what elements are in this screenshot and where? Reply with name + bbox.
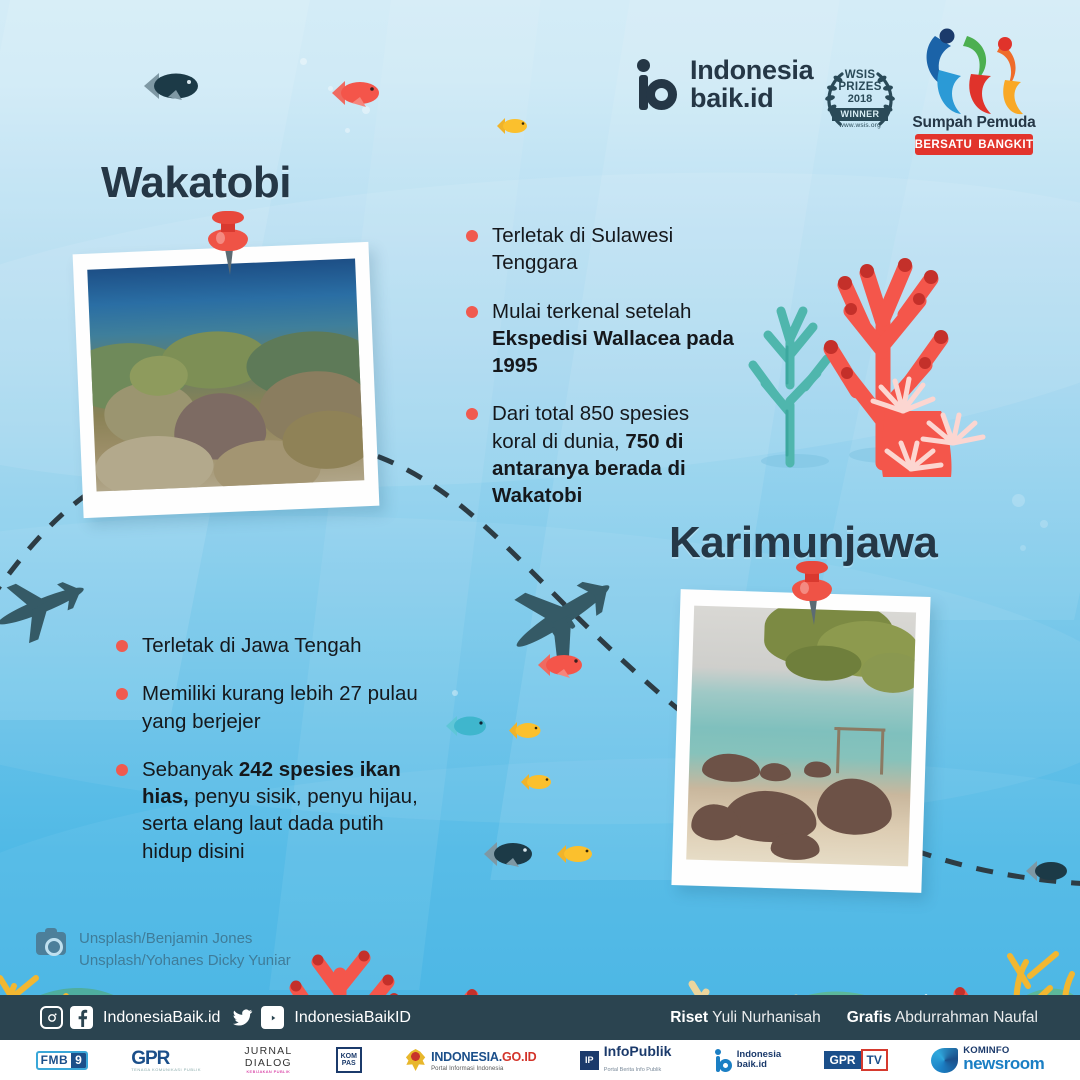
photo-beach xyxy=(686,606,916,867)
partner-logo-gpr[interactable]: GPR TENAGA KOMUNIKASI PUBLIK xyxy=(131,1045,201,1075)
bullet-text: Sebanyak 242 spesies ikan hias, penyu si… xyxy=(142,756,436,865)
page-title-wakatobi: Wakatobi xyxy=(101,158,291,208)
brand-name: Indonesia baik.id xyxy=(690,56,813,113)
bullet-list-wakatobi: Terletak di Sulawesi Tenggara Mulai terk… xyxy=(466,222,734,530)
sumpah-pemuda-badge: BERSATU BANGKIT xyxy=(915,134,1033,155)
igo-main: INDONESIA. xyxy=(431,1050,502,1064)
bubble xyxy=(300,58,307,65)
facebook-icon[interactable] xyxy=(70,1006,93,1029)
fmb-number: 9 xyxy=(71,1053,86,1068)
fish-icon xyxy=(444,710,492,742)
ib2-line-2: baik.id xyxy=(737,1060,781,1070)
indonesiabaik-mark-icon xyxy=(636,58,680,110)
fish-icon xyxy=(556,840,596,868)
gpr-sub: TENAGA KOMUNIKASI PUBLIK xyxy=(131,1068,201,1072)
bullet-text: Terletak di Jawa Tengah xyxy=(142,632,362,659)
list-item: Sebanyak 242 spesies ikan hias, penyu si… xyxy=(116,756,436,865)
fmb-text: FMB xyxy=(38,1053,72,1067)
infopublik-sub: Portal Berita Info Publik xyxy=(604,1067,661,1073)
fish-icon xyxy=(330,75,384,111)
production-credits: Riset Yuli Nurhanisah Grafis Abdurrahman… xyxy=(670,1009,1038,1027)
bullet-dot-icon xyxy=(116,764,128,776)
fish-icon xyxy=(1024,856,1070,886)
badge-left: BERSATU xyxy=(915,139,973,151)
newsroom-swirl-icon xyxy=(931,1048,958,1073)
partner-logo-infopublik[interactable]: IP InfoPublik Portal Berita Info Publik xyxy=(580,1045,672,1075)
laurel-wreath-icon xyxy=(818,62,902,146)
gprtv-a: GPR xyxy=(824,1051,860,1069)
fish-icon xyxy=(496,114,530,138)
bullet-dot-icon xyxy=(466,306,478,318)
grafis-credit: Grafis Abdurrahman Naufal xyxy=(847,1009,1038,1027)
wsis-award-badge: WSIS PRIZES 2018 WINNER www.wsis.org xyxy=(818,62,902,146)
bullet-dot-icon xyxy=(466,408,478,420)
bullet-text: Dari total 850 spesies koral di dunia, 7… xyxy=(492,400,734,509)
infopublik-title: InfoPublik xyxy=(604,1044,672,1058)
logo-sumpah-pemuda: Sumpah Pemuda BERSATU BANGKIT xyxy=(905,18,1043,168)
badge-right: BANGKIT xyxy=(978,139,1033,151)
social-handle-2: IndonesiaBaikID xyxy=(294,1009,411,1027)
gprtv-b: TV xyxy=(861,1049,888,1071)
fish-icon xyxy=(482,836,538,872)
instagram-icon[interactable] xyxy=(40,1006,63,1029)
bubble xyxy=(1012,494,1025,507)
partner-logo-strip: FMB9 GPR TENAGA KOMUNIKASI PUBLIK JURNAL… xyxy=(0,1040,1080,1080)
bubble xyxy=(452,690,458,696)
coral-decoration xyxy=(735,215,995,480)
logo-indonesiabaik[interactable]: Indonesia baik.id xyxy=(636,56,813,113)
newsroom-line-2: newsroom xyxy=(963,1054,1044,1073)
sumpah-pemuda-mark-icon xyxy=(905,18,1043,128)
jurnal-sub: KEBIJAKAN PUBLIK xyxy=(244,1070,292,1074)
grafis-name: Abdurrahman Naufal xyxy=(895,1009,1038,1026)
partner-logo-kominfo-kotak[interactable]: KOM PAS xyxy=(336,1045,362,1075)
fish-icon xyxy=(536,648,588,682)
jurnal-line-2: DIALOG xyxy=(245,1057,292,1069)
riset-name: Yuli Nurhanisah xyxy=(712,1009,821,1026)
camera-icon xyxy=(36,932,66,955)
bullet-dot-icon xyxy=(466,230,478,242)
photo-credit: Unsplash/Benjamin Jones Unsplash/Yohanes… xyxy=(36,928,291,972)
partner-logo-jurnal-dialog[interactable]: JURNAL DIALOG KEBIJAKAN PUBLIK xyxy=(244,1045,292,1075)
social-handle-1: IndonesiaBaik.id xyxy=(103,1009,220,1027)
partner-logo-indonesiabaik[interactable]: Indonesia baik.id xyxy=(715,1045,781,1075)
riset-label: Riset xyxy=(670,1009,708,1026)
partner-logo-fmb9[interactable]: FMB9 xyxy=(36,1045,88,1075)
jurnal-line-1: JURNAL xyxy=(244,1045,292,1057)
airplane-icon xyxy=(0,566,96,646)
igo-sub: Portal Informasi Indonesia xyxy=(431,1066,536,1072)
list-item: Memiliki kurang lebih 27 pulau yang berj… xyxy=(116,680,436,735)
credit-line-2: Unsplash/Yohanes Dicky Yuniar xyxy=(79,950,291,972)
grafis-label: Grafis xyxy=(847,1009,892,1026)
fish-icon xyxy=(142,66,204,106)
fish-icon xyxy=(508,718,544,743)
igo-accent: GO.ID xyxy=(502,1050,536,1064)
garuda-icon xyxy=(405,1049,426,1071)
partner-logo-gpr-tv[interactable]: GPR TV xyxy=(824,1045,887,1075)
list-item: Dari total 850 spesies koral di dunia, 7… xyxy=(466,400,734,509)
pushpin-icon-karimunjawa xyxy=(789,561,835,625)
credit-line-1: Unsplash/Benjamin Jones xyxy=(79,928,291,950)
social-group-1: IndonesiaBaik.id IndonesiaBaikID xyxy=(40,1006,415,1029)
pushpin-icon-wakatobi xyxy=(205,211,251,275)
infographic-canvas: Indonesia baik.id WSIS PRIZES 2018 WIN xyxy=(0,0,1080,1080)
indonesiabaik-mark-icon-small xyxy=(715,1049,732,1072)
partner-logo-indonesia-go-id[interactable]: INDONESIA.GO.ID Portal Informasi Indones… xyxy=(405,1045,536,1075)
footer-bar: IndonesiaBaik.id IndonesiaBaikID Riset Y… xyxy=(0,995,1080,1040)
photo-frame-karimunjawa[interactable] xyxy=(671,589,930,893)
bullet-text: Terletak di Sulawesi Tenggara xyxy=(492,222,734,277)
bullet-text: Memiliki kurang lebih 27 pulau yang berj… xyxy=(142,680,436,735)
fish-icon xyxy=(520,770,554,794)
list-item: Terletak di Sulawesi Tenggara xyxy=(466,222,734,277)
partner-logo-kominfo-newsroom[interactable]: KOMINFO newsroom xyxy=(931,1045,1044,1075)
riset-credit: Riset Yuli Nurhanisah xyxy=(670,1009,821,1027)
bullet-list-karimunjawa: Terletak di Jawa Tengah Memiliki kurang … xyxy=(116,632,436,886)
sumpah-pemuda-title: Sumpah Pemuda xyxy=(905,114,1043,132)
bullet-dot-icon xyxy=(116,640,128,652)
bullet-dot-icon xyxy=(116,688,128,700)
gpr-text: GPR xyxy=(131,1048,169,1069)
infopublik-mark: IP xyxy=(580,1051,599,1070)
bubble xyxy=(1040,520,1048,528)
twitter-icon[interactable] xyxy=(231,1006,254,1029)
list-item: Terletak di Jawa Tengah xyxy=(116,632,436,659)
youtube-icon[interactable] xyxy=(261,1006,284,1029)
brand-line-2: baik.id xyxy=(690,84,813,112)
bullet-text: Mulai terkenal setelah Ekspedisi Wallace… xyxy=(492,298,734,380)
photo-coral-reef xyxy=(87,258,364,491)
bubble xyxy=(1020,545,1026,551)
brand-line-1: Indonesia xyxy=(690,56,813,84)
photo-frame-wakatobi[interactable] xyxy=(73,242,380,518)
kotak-text: KOM PAS xyxy=(336,1047,362,1073)
bubble xyxy=(345,128,350,133)
list-item: Mulai terkenal setelah Ekspedisi Wallace… xyxy=(466,298,734,380)
